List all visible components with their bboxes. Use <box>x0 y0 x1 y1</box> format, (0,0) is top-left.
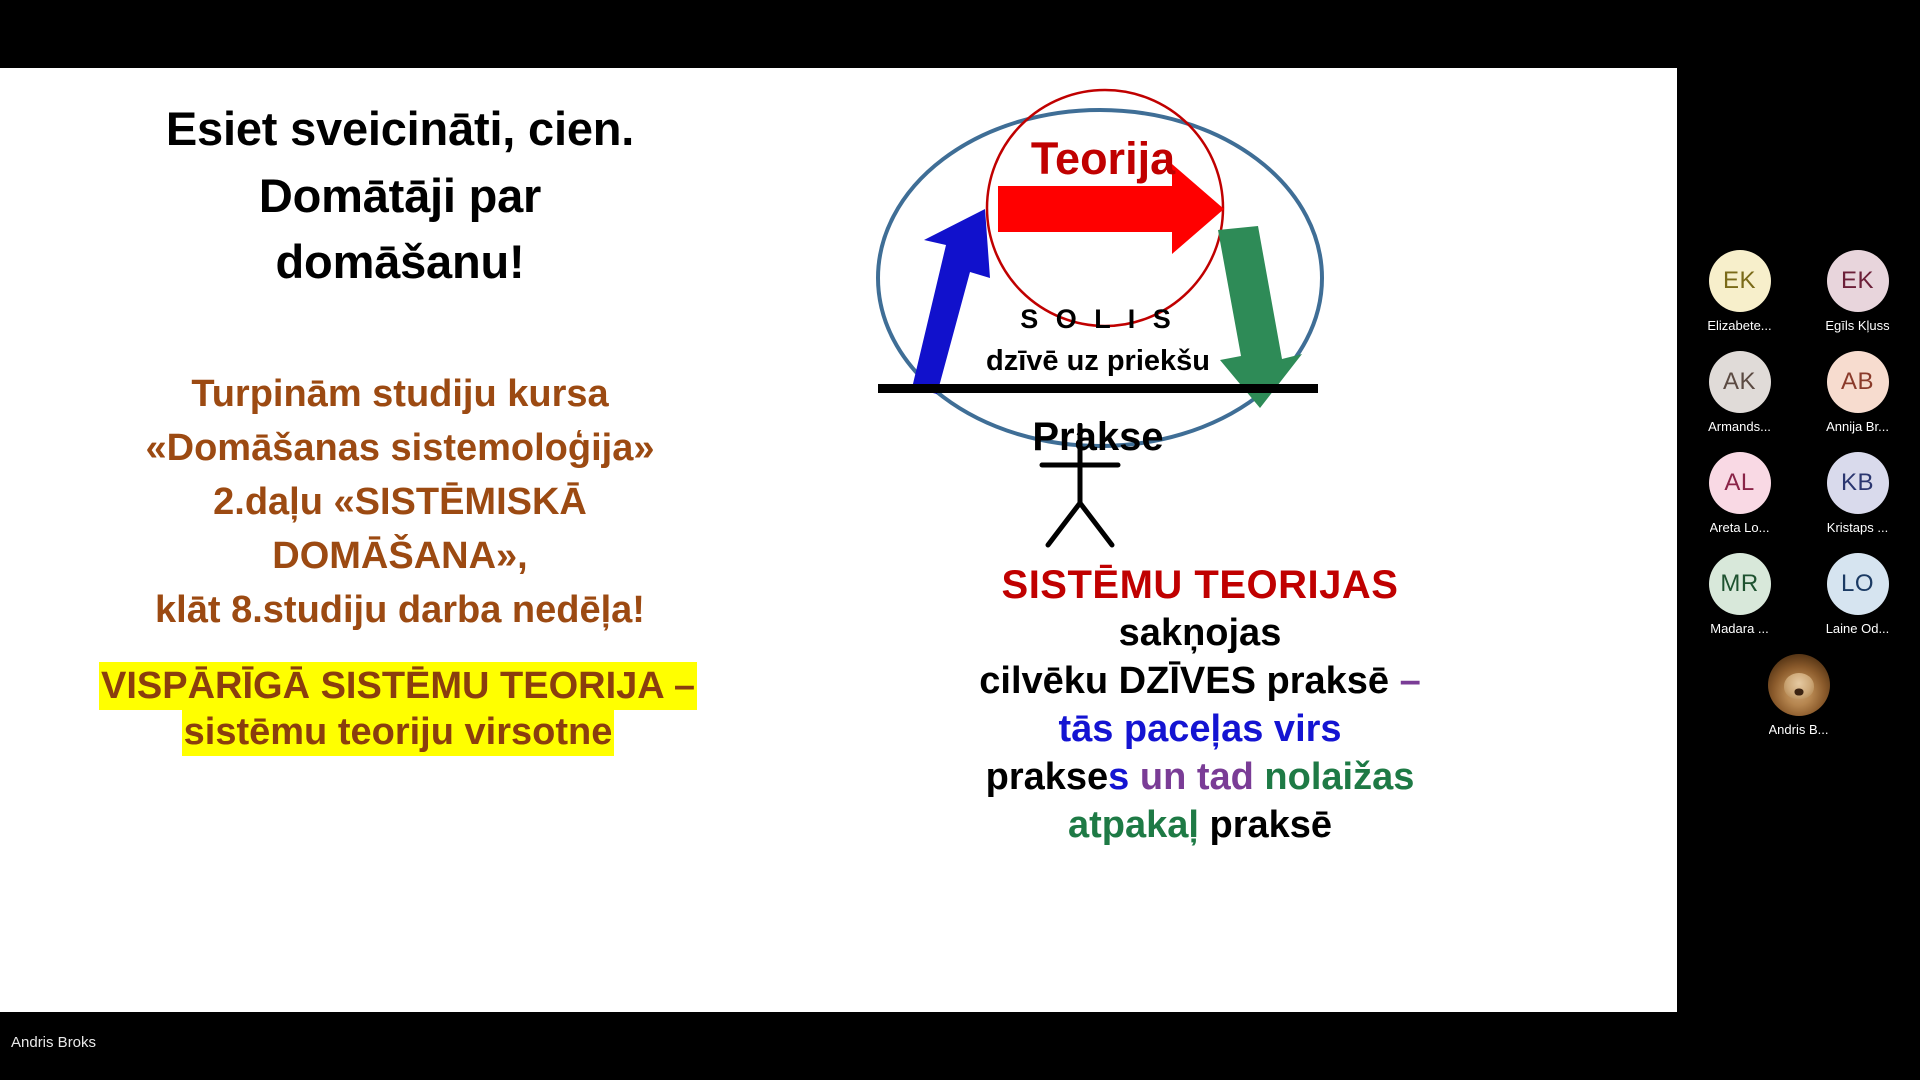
caption-line-3: cilvēku DZĪVES praksē – <box>800 658 1600 706</box>
caption-line-5-b: s <box>1108 756 1129 798</box>
headline-line-2: Domātāji par <box>60 163 740 230</box>
avatar-initials: EK <box>1723 267 1756 295</box>
participant-tile[interactable]: EK Elizabete... <box>1695 250 1785 333</box>
highlight-line-1: VISPĀRĪGĀ SISTĒMU TEORIJA – <box>28 663 768 709</box>
headline-line-3: domāšanu! <box>60 229 740 296</box>
avatar-initials: EK <box>1841 267 1874 295</box>
participant-name: Elizabete... <box>1707 318 1771 333</box>
avatar-initials: KB <box>1841 469 1874 497</box>
participant-tile[interactable]: AB Annija Br... <box>1813 351 1903 434</box>
participant-tile[interactable]: MR Madara ... <box>1695 553 1785 636</box>
participant-name: Armands... <box>1708 419 1771 434</box>
caption-line-5-a: prakse <box>986 756 1109 798</box>
shared-slide: Esiet sveicināti, cien. Domātāji par dom… <box>0 68 1677 1012</box>
intro-line-2: «Domāšanas sistemoloģija» <box>40 422 760 476</box>
step-label: S O L I S <box>1020 304 1176 334</box>
participant-name: Areta Lo... <box>1710 520 1770 535</box>
caption-line-1: SISTĒMU TEORIJAS <box>800 560 1600 610</box>
avatar[interactable]: AB <box>1827 351 1889 413</box>
stick-figure-leg-left <box>1048 503 1080 545</box>
headline-line-1: Esiet sveicināti, cien. <box>60 96 740 163</box>
caption-line-3-text: cilvēku DZĪVES praksē <box>979 660 1399 702</box>
caption-line-3-dash: – <box>1400 660 1421 702</box>
participant-rail: EK Elizabete... EK Egīls Kļuss AK Armand… <box>1677 0 1920 1080</box>
participant-name: Annija Br... <box>1826 419 1889 434</box>
stick-figure-svg <box>990 423 1170 553</box>
participant-row: AK Armands... AB Annija Br... <box>1677 351 1920 434</box>
participant-tile[interactable]: KB Kristaps ... <box>1813 452 1903 535</box>
meeting-screen: Esiet sveicināti, cien. Domātāji par dom… <box>0 0 1920 1080</box>
avatar-initials: LO <box>1841 570 1874 598</box>
caption-line-6-a: atpakaļ <box>1068 804 1199 846</box>
avatar-initials: MR <box>1720 570 1758 598</box>
participant-tile[interactable]: AK Armands... <box>1695 351 1785 434</box>
slide-caption: SISTĒMU TEORIJAS sakņojas cilvēku DZĪVES… <box>800 560 1600 850</box>
lion-photo-avatar[interactable] <box>1768 654 1830 716</box>
step-sublabel: dzīvē uz priekšu <box>986 345 1210 377</box>
intro-line-4: DOMĀŠANA», <box>40 530 760 584</box>
caption-line-5-c: un tad <box>1129 756 1264 798</box>
avatar[interactable]: KB <box>1827 452 1889 514</box>
practice-baseline <box>878 384 1318 393</box>
caption-line-5: prakses un tad nolaižas <box>800 754 1600 802</box>
stick-figure-leg-right <box>1080 503 1112 545</box>
avatar[interactable]: LO <box>1827 553 1889 615</box>
participant-grid: EK Elizabete... EK Egīls Kļuss AK Armand… <box>1677 250 1920 755</box>
participant-name: Laine Od... <box>1826 621 1890 636</box>
avatar[interactable]: AL <box>1709 452 1771 514</box>
slide-headline: Esiet sveicināti, cien. Domātāji par dom… <box>60 96 740 296</box>
participant-row: AL Areta Lo... KB Kristaps ... <box>1677 452 1920 535</box>
participant-name: Andris B... <box>1769 722 1829 737</box>
caption-line-4: tās paceļas virs <box>800 706 1600 754</box>
intro-line-3: 2.daļu «SISTĒMISKĀ <box>40 476 760 530</box>
theory-label: Teorija <box>1031 133 1176 184</box>
participant-row: EK Elizabete... EK Egīls Kļuss <box>1677 250 1920 333</box>
participant-tile[interactable]: LO Laine Od... <box>1813 553 1903 636</box>
participant-name: Egīls Kļuss <box>1825 318 1889 333</box>
intro-line-5: klāt 8.studiju darba nedēļa! <box>40 584 760 638</box>
participant-name: Madara ... <box>1710 621 1769 636</box>
slide-right-column: Teorija S O L I S dzīvē uz priekšu Praks… <box>800 68 1677 1012</box>
intro-line-1: Turpinām studiju kursa <box>40 368 760 422</box>
caption-line-2: sakņojas <box>800 610 1600 658</box>
slide-left-column: Esiet sveicināti, cien. Domātāji par dom… <box>0 68 800 1012</box>
slide-highlighted-statement: VISPĀRĪGĀ SISTĒMU TEORIJA – sistēmu teor… <box>28 663 768 756</box>
avatar[interactable]: EK <box>1709 250 1771 312</box>
participant-name: Kristaps ... <box>1827 520 1888 535</box>
slide-intro-paragraph: Turpinām studiju kursa «Domāšanas sistem… <box>40 368 760 638</box>
highlight-line-2: sistēmu teoriju virsotne <box>28 709 768 755</box>
caption-line-6: atpakaļ praksē <box>800 802 1600 850</box>
participant-row: MR Madara ... LO Laine Od... <box>1677 553 1920 636</box>
avatar-initials: AL <box>1724 469 1754 497</box>
participant-row: Andris B... <box>1677 654 1920 737</box>
caption-line-5-d: nolaižas <box>1264 756 1414 798</box>
stick-figure <box>990 423 1170 553</box>
avatar[interactable]: AK <box>1709 351 1771 413</box>
avatar-initials: AK <box>1723 368 1756 396</box>
participant-tile[interactable]: AL Areta Lo... <box>1695 452 1785 535</box>
avatar[interactable]: MR <box>1709 553 1771 615</box>
active-speaker-label: Andris Broks <box>11 1034 96 1051</box>
avatar-initials: AB <box>1841 368 1874 396</box>
avatar[interactable]: EK <box>1827 250 1889 312</box>
participant-tile[interactable]: EK Egīls Kļuss <box>1813 250 1903 333</box>
caption-line-6-b: praksē <box>1199 804 1332 846</box>
participant-tile-active-speaker[interactable]: Andris B... <box>1754 654 1844 737</box>
